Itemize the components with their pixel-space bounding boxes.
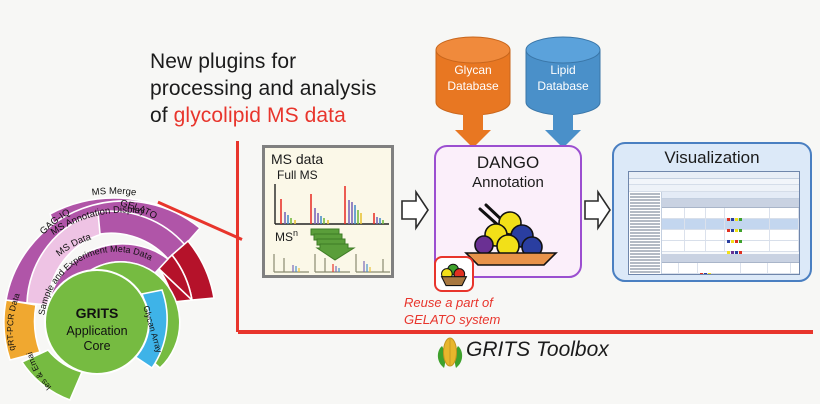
reuse-note-line-1: Reuse a part of (404, 294, 594, 311)
table-row (662, 274, 799, 275)
sunburst-core (45, 270, 149, 374)
ms-data-panel: MS data Full MS MSn (262, 145, 394, 278)
application-screenshot-mock (628, 171, 800, 275)
glycan-database-label-line2: Database (447, 79, 499, 93)
diagram-canvas: MS Merge MS Annotation Display GAG-IQ GE… (0, 0, 820, 401)
sunburst-core-line2: Application (66, 324, 127, 338)
headline-highlight: glycolipid MS data (174, 104, 346, 127)
gelato-basket-icon (434, 256, 474, 292)
reuse-note-line-2: GELATO system (404, 311, 594, 328)
screenshot-table-header-2 (662, 254, 799, 263)
toolbox-divider (238, 330, 813, 334)
block-arrow-right-icon-2 (584, 188, 612, 232)
reuse-note: Reuse a part of GELATO system (404, 294, 594, 328)
screenshot-tabs (662, 192, 799, 199)
msn-spectra (271, 252, 393, 276)
table-row (662, 263, 799, 274)
headline-text: New plugins for processing and analysis … (150, 48, 410, 129)
grits-sunburst-diagram: MS Merge MS Annotation Display GAG-IQ GE… (0, 172, 242, 404)
table-row (662, 241, 799, 252)
toolbox-label: GRITS Toolbox (466, 338, 609, 362)
headline-line-3: of glycolipid MS data (150, 102, 410, 129)
full-ms-spectrum (271, 182, 391, 228)
sunburst-core-title: GRITS (76, 305, 119, 321)
screenshot-table-pane (662, 192, 799, 275)
ms-data-subtitle: Full MS (277, 168, 318, 182)
screenshot-tree-pane (629, 192, 662, 275)
lipid-database-label-line1: Lipid (550, 63, 575, 77)
screenshot-table-header (662, 199, 799, 208)
ms-data-title: MS data (271, 151, 323, 167)
table-row (662, 230, 799, 241)
dango-title: DANGO (436, 153, 580, 173)
lipid-arrow-down-icon (545, 112, 581, 148)
sunburst-label-ms-merge: MS Merge (91, 186, 137, 199)
visualization-title: Visualization (614, 148, 810, 168)
glycan-arrow-down-icon (455, 112, 491, 148)
lipid-database-label-line2: Database (537, 79, 589, 93)
screenshot-titlebar (629, 172, 799, 179)
dango-subtitle: Annotation (436, 174, 580, 191)
screenshot-body (629, 192, 799, 275)
table-row-selected (662, 219, 799, 230)
screenshot-toolbar (629, 185, 799, 192)
gelato-basket-glyph (436, 258, 472, 290)
corn-icon (434, 336, 468, 376)
lipid-database-cylinder: Lipid Database (526, 37, 600, 148)
svg-text:MS Merge: MS Merge (91, 186, 137, 199)
glycan-database-label-line1: Glycan (454, 63, 491, 77)
headline-line-2: processing and analysis (150, 75, 410, 102)
database-sources: Glycan Database Lipid Database (428, 32, 608, 150)
block-arrow-right-icon-1 (400, 188, 430, 232)
headline-line-1: New plugins for (150, 48, 410, 75)
visualization-panel: Visualization (612, 142, 812, 282)
glycan-database-cylinder: Glycan Database (436, 37, 510, 148)
headline-line-3-prefix: of (150, 104, 174, 127)
sunburst-core-line3: Core (83, 339, 110, 353)
msn-label: MSn (275, 228, 298, 244)
table-row (662, 208, 799, 219)
